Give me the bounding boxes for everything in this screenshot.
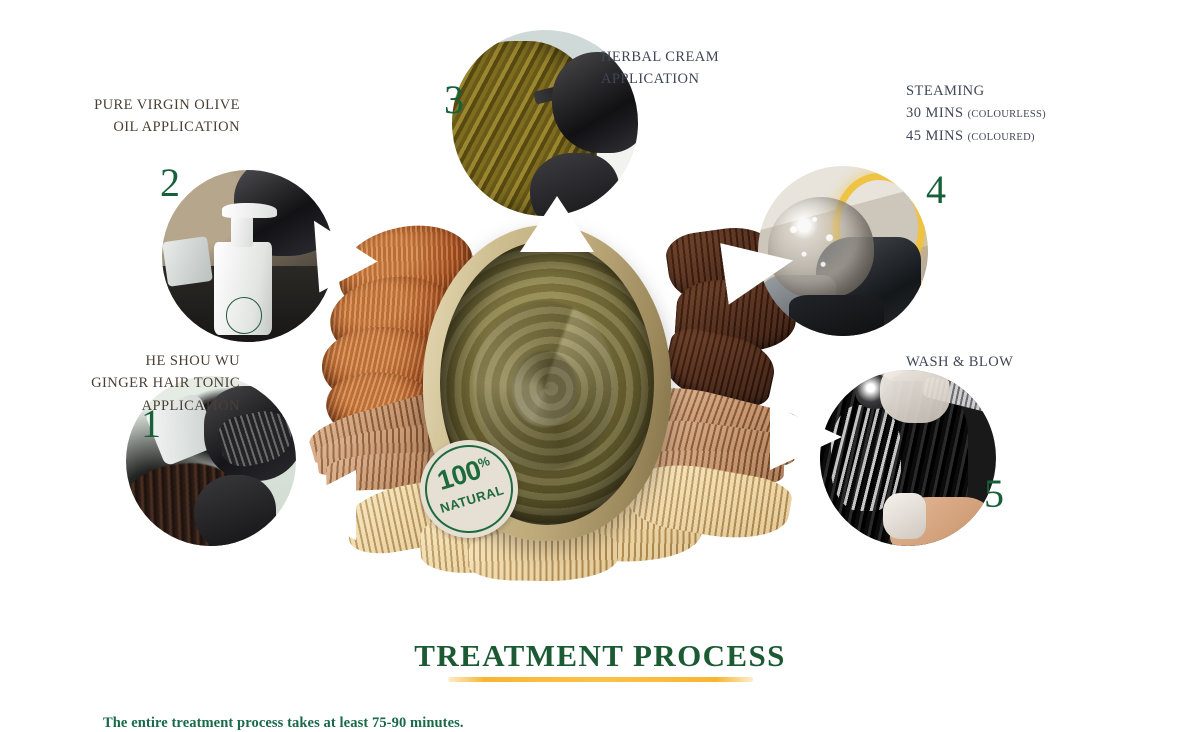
wash-photo-layers [820,370,996,546]
gloved-hand-icon [880,370,950,423]
paste-swirl-centre [512,351,576,427]
pump-head [222,203,277,218]
photo-olive-oil-pump-bottle [162,170,334,342]
step-2-label-line-1: PURE VIRGIN OLIVE [45,94,240,116]
step-3-label-line-2: APPLICATION [601,68,719,90]
step-5-number: 5 [984,474,1004,514]
step-4-number: 4 [926,170,946,210]
olive-oil-photo-layers [162,170,334,342]
pump-bottle-neck [231,216,253,247]
steaming-photo-layers [758,166,928,336]
step-4-label: STEAMING 30 MINS (COLOURLESS) 45 MINS (C… [906,80,1046,147]
brand-logo-icon [226,297,262,333]
step-3-label-line-1: HERBAL CREAM [601,46,719,68]
salon-cape [789,295,884,336]
condensation-droplets [768,197,873,299]
infographic-canvas: HE SHOU WU GINGER HAIR TONIC APPLICATION… [0,0,1200,729]
footer: TREATMENT PROCESS The entire treatment p… [0,640,1200,682]
step-1-label-line-2: GINGER HAIR TONIC [45,372,240,394]
step-5-label-line-1: WASH & BLOW [906,351,1013,373]
step-3-label: HERBAL CREAM APPLICATION [601,46,719,91]
step-2-number: 2 [160,163,180,203]
step-4-timing-2-note: (COLOURED) [968,132,1035,143]
step-4-timing-1-note: (COLOURLESS) [968,109,1046,120]
step-4-timing-1-mins: 30 MINS [906,105,964,121]
step-4-timing-2-mins: 45 MINS [906,128,964,144]
photo-wash-and-blow [820,370,996,546]
step-5-label: WASH & BLOW [906,351,1013,373]
step-2-label: PURE VIRGIN OLIVE OIL APPLICATION [45,94,240,139]
step-2-label-line-2: OIL APPLICATION [45,116,240,138]
title-underline [448,677,753,682]
step-4-timing-row-2: 45 MINS (COLOURED) [906,125,1046,147]
footer-note: The entire treatment process takes at le… [103,715,464,732]
secondary-bottle [163,236,214,287]
step-1-label-line-1: HE SHOU WU [45,350,240,372]
step-3-number: 3 [444,80,464,120]
step-4-timing-row-1: 30 MINS (COLOURLESS) [906,102,1046,124]
gloved-hand-icon [194,475,276,546]
step-1-number: 1 [141,404,161,444]
page-title: TREATMENT PROCESS [0,640,1200,671]
gloved-hand-icon [530,153,619,216]
step-4-label-line-1: STEAMING [906,80,1046,102]
glove-cuff [883,493,925,539]
photo-steaming-dome [758,166,928,336]
